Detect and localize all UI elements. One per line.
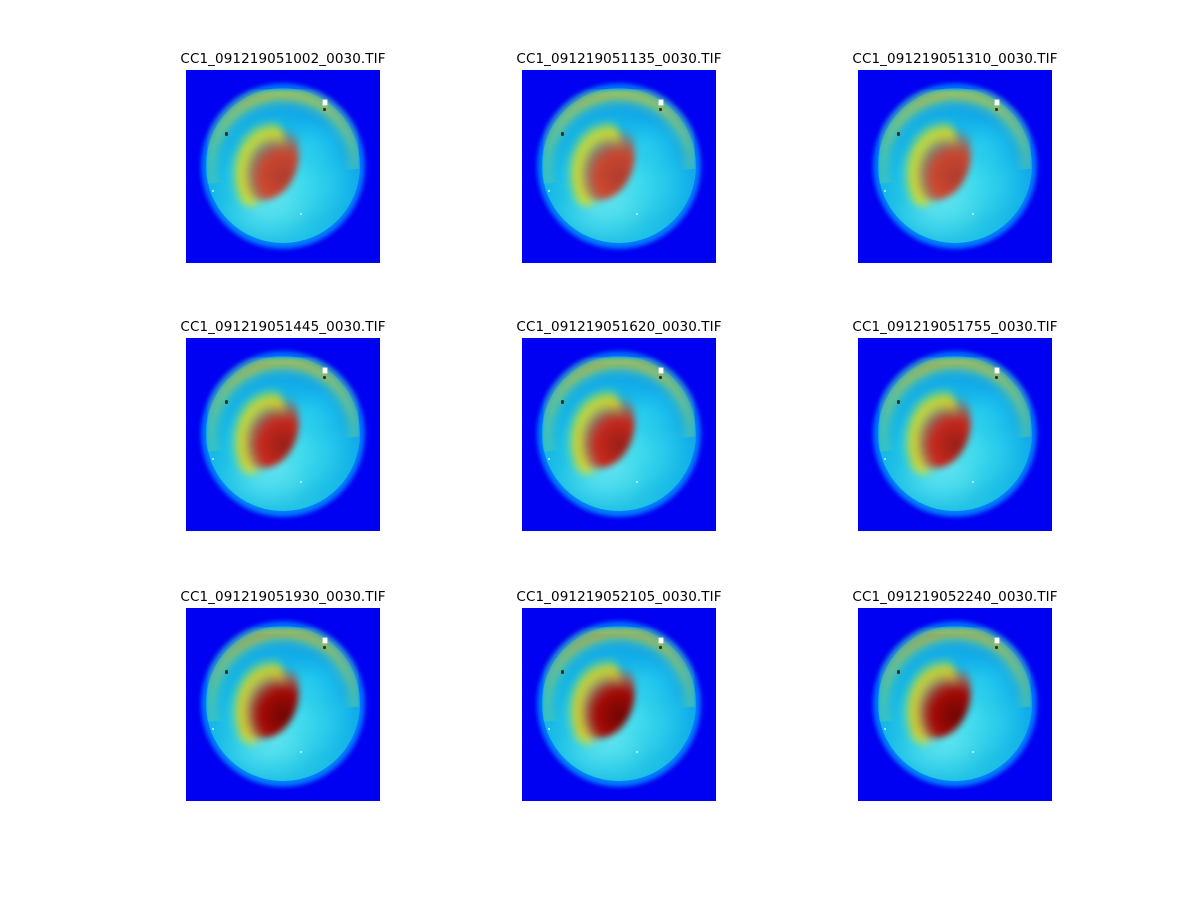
dark-speck [659,108,662,111]
limb-speck [212,458,214,460]
limb-speck [212,728,214,730]
dark-speck [659,646,662,649]
dark-speck [323,108,326,111]
hot-crescent-arc [186,338,380,531]
dark-speck [995,108,998,111]
panel-title: CC1_091219051310_0030.TIF [852,51,1057,67]
image-panel[interactable]: CC1_091219051135_0030.TIF [522,70,716,263]
dark-speck [323,646,326,649]
false-color-sphere-image[interactable] [858,608,1052,801]
image-panel[interactable]: CC1_091219052105_0030.TIF [522,608,716,801]
limb-speck [548,728,550,730]
limb-speck [548,458,550,460]
limb-speck [884,190,886,192]
dark-spot [561,400,564,404]
dark-spot [225,670,228,674]
false-color-sphere-image[interactable] [522,338,716,531]
hot-crescent-arc [186,608,380,801]
false-color-sphere-image[interactable] [186,608,380,801]
dark-spot [561,132,564,136]
hot-crescent-arc [522,338,716,531]
dark-speck [323,376,326,379]
image-panel[interactable]: CC1_091219051930_0030.TIF [186,608,380,801]
hot-crescent-arc [522,70,716,263]
false-color-sphere-image[interactable] [858,338,1052,531]
limb-speck [884,728,886,730]
bright-speck [659,100,663,105]
dark-spot [225,132,228,136]
bright-speck [659,368,663,373]
panel-title: CC1_091219051445_0030.TIF [180,319,385,335]
hot-crescent-arc [858,338,1052,531]
dark-spot [897,132,900,136]
bright-speck [323,638,327,643]
false-color-sphere-image[interactable] [522,608,716,801]
panel-title: CC1_091219051620_0030.TIF [516,319,721,335]
false-color-sphere-image[interactable] [858,70,1052,263]
bright-speck [323,100,327,105]
image-panel[interactable]: CC1_091219051310_0030.TIF [858,70,1052,263]
limb-speck [884,458,886,460]
image-panel[interactable]: CC1_091219051445_0030.TIF [186,338,380,531]
image-panel[interactable]: CC1_091219052240_0030.TIF [858,608,1052,801]
panel-title: CC1_091219051135_0030.TIF [516,51,721,67]
hot-crescent-arc [186,70,380,263]
bright-speck [659,638,663,643]
image-panel[interactable]: CC1_091219051620_0030.TIF [522,338,716,531]
panel-title: CC1_091219051755_0030.TIF [852,319,1057,335]
dark-speck [659,376,662,379]
dark-spot [897,670,900,674]
hot-crescent-arc [522,608,716,801]
image-panel[interactable]: CC1_091219051755_0030.TIF [858,338,1052,531]
false-color-sphere-image[interactable] [186,70,380,263]
hot-crescent-arc [858,608,1052,801]
limb-speck [548,190,550,192]
figure-canvas: CC1_091219051002_0030.TIFCC1_09121905113… [0,0,1201,901]
image-panel[interactable]: CC1_091219051002_0030.TIF [186,70,380,263]
panel-title: CC1_091219051930_0030.TIF [180,589,385,605]
panel-title: CC1_091219052240_0030.TIF [852,589,1057,605]
bright-speck [995,368,999,373]
dark-speck [995,376,998,379]
dark-speck [995,646,998,649]
panel-title: CC1_091219052105_0030.TIF [516,589,721,605]
false-color-sphere-image[interactable] [186,338,380,531]
panel-title: CC1_091219051002_0030.TIF [180,51,385,67]
limb-speck [212,190,214,192]
dark-spot [225,400,228,404]
bright-speck [323,368,327,373]
false-color-sphere-image[interactable] [522,70,716,263]
bright-speck [995,638,999,643]
hot-crescent-arc [858,70,1052,263]
dark-spot [897,400,900,404]
bright-speck [995,100,999,105]
dark-spot [561,670,564,674]
